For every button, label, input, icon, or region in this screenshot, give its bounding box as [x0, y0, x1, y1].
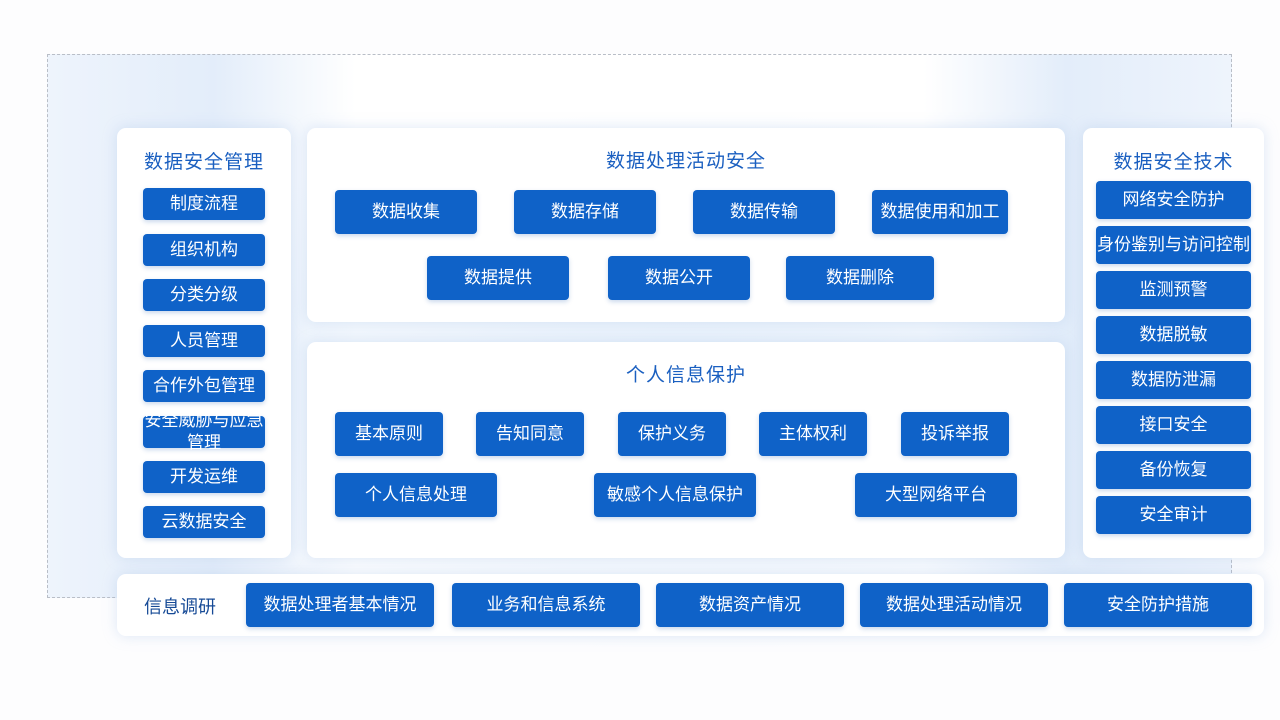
chip-pip-r2-0[interactable]: 个人信息处理 — [335, 473, 497, 517]
chip-label: 数据防泄漏 — [1096, 369, 1251, 391]
chip-right-0[interactable]: 网络安全防护 — [1096, 181, 1251, 219]
chip-process-r2-1[interactable]: 数据公开 — [608, 256, 750, 300]
chip-label: 数据传输 — [693, 201, 835, 223]
chip-process-r1-1[interactable]: 数据存储 — [514, 190, 656, 234]
chip-label: 个人信息处理 — [335, 484, 497, 506]
chip-label: 云数据安全 — [143, 511, 265, 533]
chip-pip-r1-1[interactable]: 告知同意 — [476, 412, 584, 456]
chip-label: 接口安全 — [1096, 414, 1251, 436]
chip-pip-r1-4[interactable]: 投诉举报 — [901, 412, 1009, 456]
chip-label: 数据收集 — [335, 201, 477, 223]
chip-left-5[interactable]: 安全威胁与应急管理 — [143, 416, 265, 448]
chip-label: 业务和信息系统 — [452, 594, 640, 616]
chip-bottom-2[interactable]: 数据资产情况 — [656, 583, 844, 627]
panel-personal-information-protection: 个人信息保护 基本原则 告知同意 保护义务 主体权利 投诉举报 个人信息处理 敏… — [307, 342, 1065, 558]
chip-label: 备份恢复 — [1096, 459, 1251, 481]
chip-label: 大型网络平台 — [855, 484, 1017, 506]
chip-label: 组织机构 — [143, 239, 265, 261]
chip-right-3[interactable]: 数据脱敏 — [1096, 316, 1251, 354]
chip-left-4[interactable]: 合作外包管理 — [143, 370, 265, 402]
chip-left-2[interactable]: 分类分级 — [143, 279, 265, 311]
chip-process-r1-0[interactable]: 数据收集 — [335, 190, 477, 234]
chip-label: 数据资产情况 — [656, 594, 844, 616]
chip-right-1[interactable]: 身份鉴别与访问控制 — [1096, 226, 1251, 264]
chip-process-r2-0[interactable]: 数据提供 — [427, 256, 569, 300]
panel-title-right: 数据安全技术 — [1083, 147, 1264, 174]
chip-label: 安全防护措施 — [1064, 594, 1252, 616]
chip-label: 数据处理者基本情况 — [246, 594, 434, 616]
diagram-frame: 数据安全管理 制度流程 组织机构 分类分级 人员管理 合作外包管理 安全威胁与应… — [47, 54, 1232, 598]
chip-bottom-4[interactable]: 安全防护措施 — [1064, 583, 1252, 627]
chip-label: 数据公开 — [608, 267, 750, 289]
chip-pip-r1-0[interactable]: 基本原则 — [335, 412, 443, 456]
chip-label: 保护义务 — [618, 423, 726, 445]
chip-label: 数据脱敏 — [1096, 324, 1251, 346]
chip-label: 安全审计 — [1096, 504, 1251, 526]
panel-title-personal-info: 个人信息保护 — [307, 360, 1065, 387]
chip-bottom-3[interactable]: 数据处理活动情况 — [860, 583, 1048, 627]
chip-pip-r1-2[interactable]: 保护义务 — [618, 412, 726, 456]
chip-label: 数据存储 — [514, 201, 656, 223]
chip-pip-r1-3[interactable]: 主体权利 — [759, 412, 867, 456]
chip-label: 分类分级 — [143, 284, 265, 306]
chip-right-7[interactable]: 安全审计 — [1096, 496, 1251, 534]
panel-title-left: 数据安全管理 — [117, 147, 291, 174]
chip-left-1[interactable]: 组织机构 — [143, 234, 265, 266]
chip-label: 数据使用和加工 — [872, 201, 1008, 223]
chip-label: 制度流程 — [143, 193, 265, 215]
chip-label: 合作外包管理 — [143, 375, 265, 397]
chip-label: 监测预警 — [1096, 279, 1251, 301]
chip-right-2[interactable]: 监测预警 — [1096, 271, 1251, 309]
chip-right-5[interactable]: 接口安全 — [1096, 406, 1251, 444]
bottom-panel-label: 信息调研 — [144, 593, 216, 619]
chip-right-6[interactable]: 备份恢复 — [1096, 451, 1251, 489]
chip-label: 数据提供 — [427, 267, 569, 289]
chip-label: 投诉举报 — [901, 423, 1009, 445]
chip-label: 开发运维 — [143, 466, 265, 488]
chip-left-6[interactable]: 开发运维 — [143, 461, 265, 493]
chip-label: 基本原则 — [335, 423, 443, 445]
chip-left-3[interactable]: 人员管理 — [143, 325, 265, 357]
chip-right-4[interactable]: 数据防泄漏 — [1096, 361, 1251, 399]
panel-data-security-technology: 数据安全技术 网络安全防护 身份鉴别与访问控制 监测预警 数据脱敏 数据防泄漏 … — [1083, 128, 1264, 558]
chip-label: 人员管理 — [143, 330, 265, 352]
chip-pip-r2-1[interactable]: 敏感个人信息保护 — [594, 473, 756, 517]
chip-pip-r2-2[interactable]: 大型网络平台 — [855, 473, 1017, 517]
chip-label: 主体权利 — [759, 423, 867, 445]
chip-bottom-0[interactable]: 数据处理者基本情况 — [246, 583, 434, 627]
chip-left-0[interactable]: 制度流程 — [143, 188, 265, 220]
panel-title-process: 数据处理活动安全 — [307, 146, 1065, 173]
panel-data-processing-activity-security: 数据处理活动安全 数据收集 数据存储 数据传输 数据使用和加工 数据提供 数据公… — [307, 128, 1065, 322]
chip-label: 敏感个人信息保护 — [594, 484, 756, 506]
chip-process-r2-2[interactable]: 数据删除 — [786, 256, 934, 300]
chip-label: 安全威胁与应急管理 — [143, 410, 265, 454]
chip-label: 数据删除 — [786, 267, 934, 289]
chip-label: 网络安全防护 — [1096, 189, 1251, 211]
chip-bottom-1[interactable]: 业务和信息系统 — [452, 583, 640, 627]
chip-label: 数据处理活动情况 — [860, 594, 1048, 616]
chip-label: 身份鉴别与访问控制 — [1096, 234, 1251, 256]
panel-information-survey: 信息调研 数据处理者基本情况 业务和信息系统 数据资产情况 数据处理活动情况 安… — [117, 574, 1264, 636]
panel-data-security-management: 数据安全管理 制度流程 组织机构 分类分级 人员管理 合作外包管理 安全威胁与应… — [117, 128, 291, 558]
chip-process-r1-3[interactable]: 数据使用和加工 — [872, 190, 1008, 234]
chip-left-7[interactable]: 云数据安全 — [143, 506, 265, 538]
chip-process-r1-2[interactable]: 数据传输 — [693, 190, 835, 234]
chip-label: 告知同意 — [476, 423, 584, 445]
